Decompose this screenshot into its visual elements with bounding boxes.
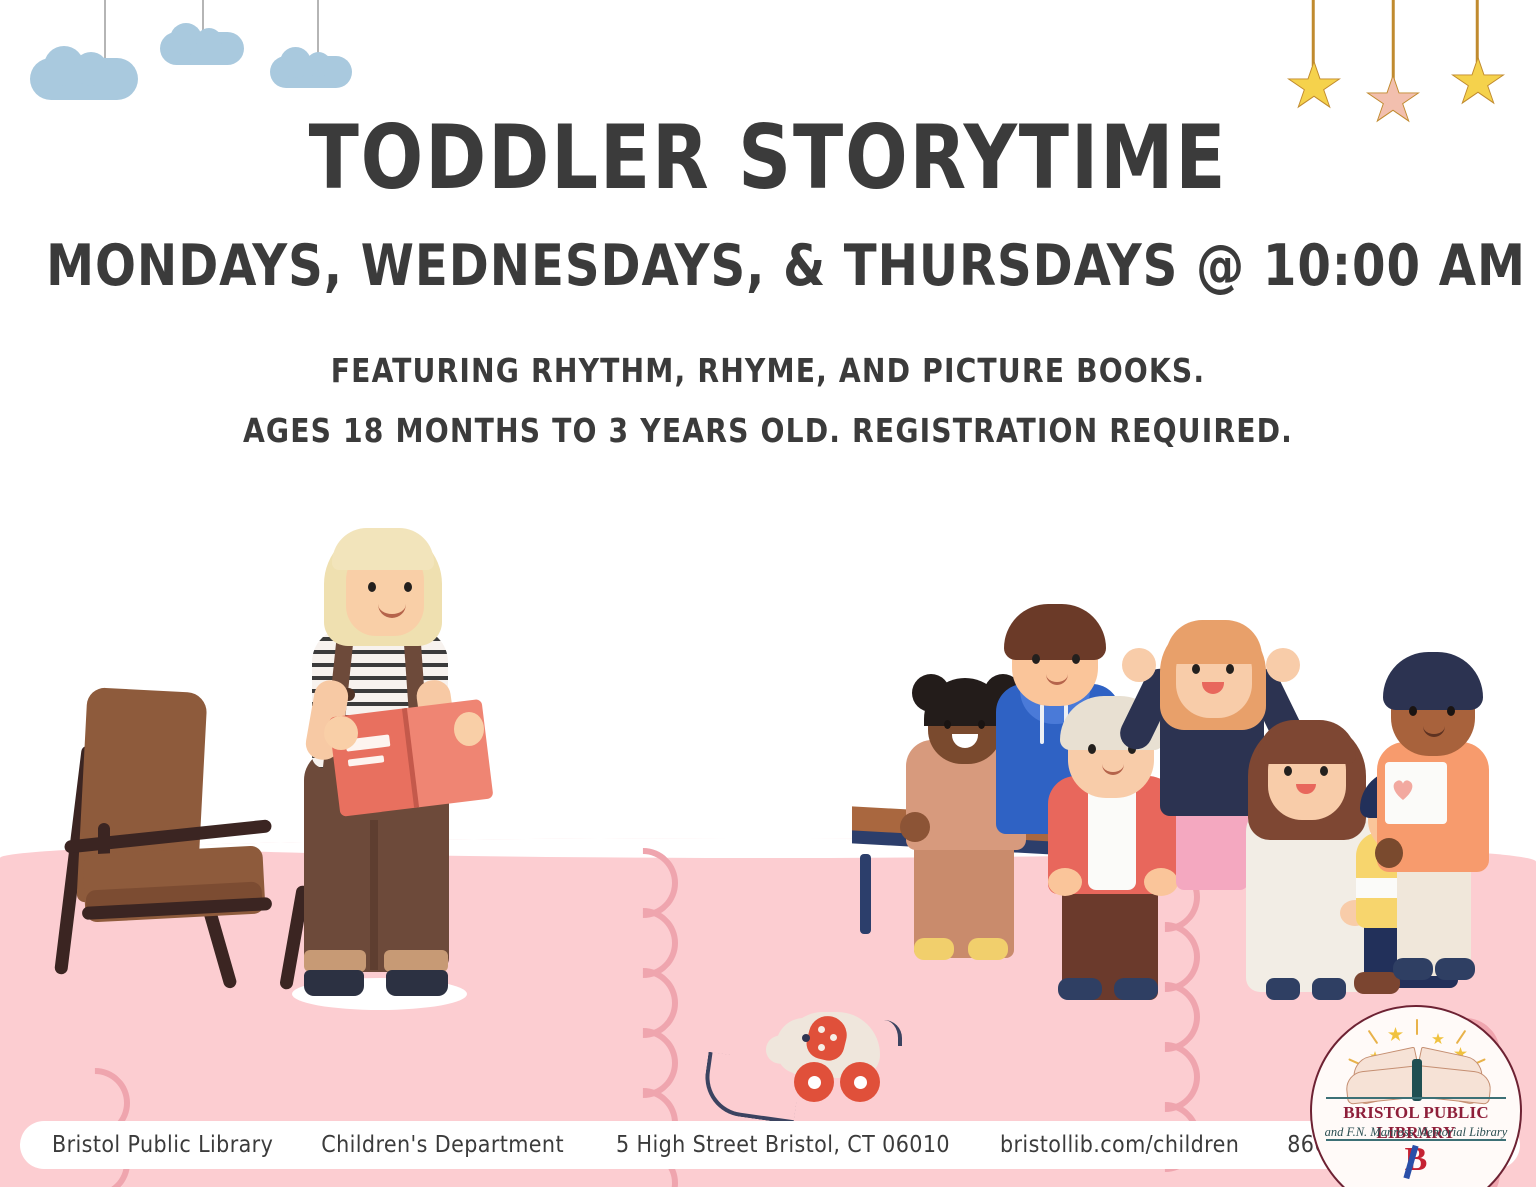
logo-star bbox=[1432, 1033, 1444, 1045]
reader-hand-right bbox=[454, 712, 484, 746]
cloud-puff bbox=[74, 52, 108, 86]
elephant-eye bbox=[802, 1034, 810, 1042]
logo-ray bbox=[1368, 1030, 1379, 1044]
footer-address: 5 High Street Bristol, CT 06010 bbox=[616, 1132, 950, 1158]
footer-library-name: Bristol Public Library bbox=[52, 1132, 273, 1158]
child-eye bbox=[1447, 706, 1455, 716]
logo-star bbox=[1388, 1027, 1403, 1042]
child-hand bbox=[900, 812, 930, 842]
child-shoe bbox=[914, 938, 954, 960]
paper-card bbox=[1385, 762, 1447, 824]
reader-eye-left bbox=[368, 582, 376, 592]
child-eye bbox=[1192, 664, 1200, 674]
child-eye bbox=[944, 720, 951, 729]
children-group bbox=[890, 590, 1480, 990]
child-eye bbox=[1072, 654, 1080, 664]
child-eye bbox=[1032, 654, 1040, 664]
cloud-2 bbox=[160, 0, 250, 70]
child-hand bbox=[1048, 868, 1082, 896]
detail-line-1: FEATURING RHYTHM, RHYME, AND PICTURE BOO… bbox=[38, 352, 1497, 390]
footer-website[interactable]: bristollib.com/children bbox=[1000, 1132, 1239, 1158]
child-hair bbox=[1166, 620, 1262, 664]
reader-cuff-left bbox=[304, 950, 366, 972]
logo-book-spine bbox=[1412, 1059, 1422, 1101]
child-eye bbox=[978, 720, 985, 729]
cloud-string bbox=[317, 0, 319, 58]
child-orange-sweater bbox=[1335, 650, 1485, 980]
logo-ray bbox=[1456, 1030, 1467, 1044]
logo-ray bbox=[1416, 1019, 1418, 1035]
footer-info-list: Bristol Public Library Children's Depart… bbox=[20, 1121, 1310, 1169]
schedule-subtitle: MONDAYS, WEDNESDAYS, & THURSDAYS @ 10:00… bbox=[46, 235, 1490, 297]
child-shoe bbox=[1435, 958, 1475, 980]
cloud-puff bbox=[196, 28, 222, 54]
child-hand bbox=[1375, 838, 1403, 868]
detail-line-2: AGES 18 MONTHS TO 3 YEARS OLD. REGISTRAT… bbox=[38, 412, 1497, 450]
footer-department: Children's Department bbox=[321, 1132, 564, 1158]
star-yellow-1 bbox=[1283, 0, 1343, 110]
cloud-3 bbox=[270, 0, 360, 90]
child-eye bbox=[1088, 744, 1096, 754]
star-string bbox=[1476, 0, 1479, 62]
cloud-1 bbox=[30, 0, 140, 105]
elephant-ear-dot bbox=[830, 1034, 837, 1041]
star-pink bbox=[1362, 0, 1424, 130]
cloud-puff bbox=[306, 52, 331, 77]
elephant-wheel-hub bbox=[808, 1076, 821, 1089]
child-shoe bbox=[1312, 978, 1346, 1000]
elephant-tail bbox=[876, 1020, 902, 1046]
reader-hand-left bbox=[324, 716, 358, 750]
elephant-wheel-hub bbox=[854, 1076, 867, 1089]
reader-bangs bbox=[332, 528, 434, 570]
librarian-reading-book bbox=[282, 520, 482, 1015]
child-eye bbox=[1226, 664, 1234, 674]
child-hand bbox=[1122, 648, 1156, 682]
cloud-string bbox=[104, 0, 106, 62]
book-cover-right bbox=[404, 699, 494, 808]
elephant-ear-dot bbox=[818, 1044, 825, 1051]
reader-trouser-split bbox=[370, 820, 378, 970]
elephant-ear-dot bbox=[818, 1026, 825, 1033]
star-string bbox=[1392, 0, 1395, 80]
child-eye bbox=[1320, 766, 1328, 776]
reader-sandal-left bbox=[304, 970, 364, 996]
child-shoe bbox=[1114, 978, 1158, 1000]
bench-leg-left bbox=[860, 854, 871, 934]
cloud-string bbox=[202, 0, 204, 32]
child-shoe bbox=[1058, 978, 1102, 1000]
reader-sandal-right bbox=[386, 970, 448, 996]
logo-circle: BRISTOL PUBLIC LIBRARY and F.N. Manross … bbox=[1310, 1005, 1522, 1187]
poster-canvas: TODDLER STORYTIME MONDAYS, WEDNESDAYS, &… bbox=[0, 0, 1536, 1187]
logo-rule-top bbox=[1326, 1097, 1506, 1099]
child-eye bbox=[1284, 766, 1292, 776]
child-eye bbox=[1409, 706, 1417, 716]
logo-library-sub: and F.N. Manross Memorial Library bbox=[1312, 1125, 1520, 1140]
reader-eye-right bbox=[404, 582, 412, 592]
star-icon-fill bbox=[1290, 63, 1338, 109]
star-icon-fill bbox=[1454, 59, 1502, 105]
child-hand bbox=[1266, 648, 1300, 682]
child-shoe bbox=[1393, 958, 1433, 980]
child-shoe bbox=[1266, 978, 1300, 1000]
child-hair bbox=[1004, 604, 1106, 660]
star-string bbox=[1312, 0, 1315, 66]
page-title: TODDLER STORYTIME bbox=[54, 112, 1482, 204]
child-shoe bbox=[968, 938, 1008, 960]
child-hair bbox=[1383, 652, 1483, 710]
elephant-pull-toy bbox=[762, 1000, 902, 1120]
star-yellow-2 bbox=[1447, 0, 1507, 110]
library-logo: BRISTOL PUBLIC LIBRARY and F.N. Manross … bbox=[1310, 1005, 1522, 1187]
reader-cuff-right bbox=[384, 950, 448, 972]
